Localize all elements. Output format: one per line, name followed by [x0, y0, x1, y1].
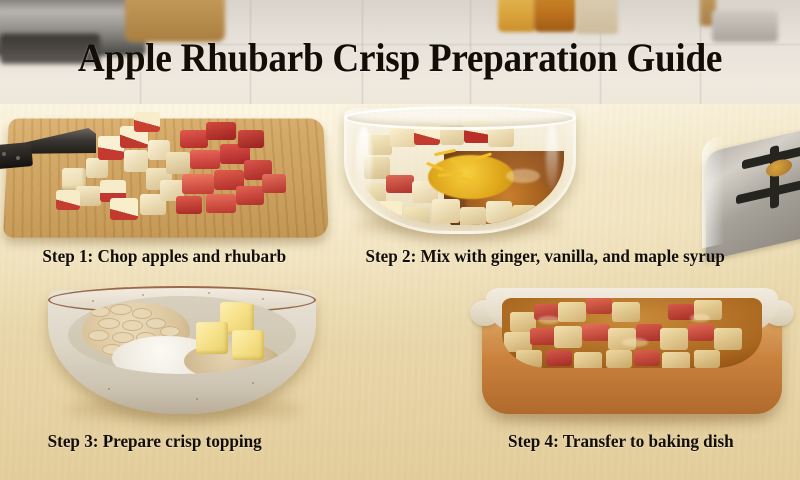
butter-cube [196, 322, 228, 354]
ceramic-speckle [108, 388, 110, 390]
chopped-rhubarb-piece [236, 186, 264, 205]
chopped-rhubarb-piece [180, 130, 208, 148]
syrup-glaze-gloss [538, 316, 560, 324]
apple-piece-in-bowl [486, 201, 512, 223]
oat-flake [122, 320, 143, 331]
diced-apple-piece [86, 158, 108, 178]
apple-piece-in-dish [714, 328, 742, 350]
chopped-rhubarb-piece [262, 174, 286, 193]
rhubarb-piece-in-bowl [386, 175, 414, 193]
apple-piece-in-bowl [390, 127, 416, 147]
apple-piece-in-dish [504, 332, 532, 352]
chopped-rhubarb-piece [182, 174, 214, 194]
step-2-caption: Step 2: Mix with ginger, vanilla, and ma… [365, 246, 724, 267]
ceramic-speckle [92, 300, 94, 302]
apple-rhubarb-filling [502, 298, 762, 368]
apple-piece-in-bowl [432, 199, 460, 223]
amber-jar-right [534, 0, 576, 32]
apple-piece-in-dish [722, 306, 748, 326]
apple-piece-in-bowl [512, 205, 536, 225]
oat-flake [90, 306, 110, 317]
ceramic-speckle [262, 298, 264, 300]
oat-flake [110, 304, 132, 315]
syrup-gloss [506, 169, 540, 183]
chopped-rhubarb-piece [190, 150, 220, 169]
apple-piece-with-skin [110, 198, 138, 220]
amber-jar-left [498, 0, 536, 32]
oat-flake [98, 318, 120, 329]
butter-cube [232, 330, 264, 360]
rhubarb-piece-in-dish [582, 324, 610, 341]
glass-highlight [356, 126, 372, 200]
apple-piece-with-skin [134, 112, 160, 132]
apple-piece-with-skin [56, 190, 80, 210]
step-4-caption: Step 4: Transfer to baking dish [508, 431, 734, 452]
chopped-rhubarb-piece [238, 130, 264, 148]
utensil-crock [576, 0, 618, 34]
ceramic-speckle [142, 294, 144, 296]
apple-piece-in-dish [558, 302, 586, 322]
step-1-caption: Step 1: Chop apples and rhubarb [42, 246, 286, 267]
glass-bowl-contents [356, 121, 564, 225]
oat-flake [88, 330, 109, 341]
ceramic-bowl-interior [68, 296, 296, 374]
apple-piece-in-dish [516, 350, 542, 368]
recipe-infographic: Apple Rhubarb Crisp Preparation Guide St… [0, 0, 800, 480]
oat-flake [132, 308, 152, 319]
chopped-rhubarb-piece [206, 194, 236, 213]
apple-piece-in-dish [662, 352, 690, 368]
chopped-rhubarb-piece [206, 122, 236, 140]
rhubarb-piece-in-dish [586, 298, 612, 314]
knife-rivet [2, 152, 6, 156]
apple-piece-in-bowl [460, 207, 486, 225]
apple-piece-in-bowl [488, 127, 514, 147]
glass-bowl-rim [344, 106, 576, 130]
rhubarb-piece-in-dish [634, 350, 660, 366]
stove-grate [770, 145, 779, 209]
knife-rivet [16, 156, 20, 160]
rhubarb-piece-in-dish [688, 324, 714, 341]
apple-piece-in-bowl [404, 207, 430, 225]
apple-piece-in-dish [554, 326, 582, 348]
apple-piece-in-dish [642, 300, 668, 320]
syrup-glaze-gloss [690, 314, 710, 322]
apple-piece-in-dish [694, 350, 720, 368]
diced-apple-piece [166, 152, 190, 174]
rhubarb-piece-in-dish [546, 350, 572, 366]
apple-piece-in-dish [612, 302, 640, 322]
apple-piece-in-dish [574, 352, 602, 368]
ceramic-speckle [208, 292, 210, 294]
apple-piece-in-dish [606, 350, 632, 368]
chopped-rhubarb-piece [176, 196, 202, 214]
ceramic-speckle [196, 398, 198, 400]
step-3-caption: Step 3: Prepare crisp topping [48, 431, 262, 452]
apple-piece-in-dish [660, 328, 688, 350]
glass-highlight [546, 124, 558, 190]
stovetop-edge [702, 135, 724, 248]
page-title: Apple Rhubarb Crisp Preparation Guide [28, 34, 772, 81]
syrup-glaze-gloss [622, 338, 648, 347]
ceramic-speckle [252, 382, 254, 384]
apple-piece-with-skin-in-bowl [374, 201, 402, 223]
diced-apple-piece [124, 150, 148, 172]
rhubarb-piece-in-dish [530, 328, 556, 345]
